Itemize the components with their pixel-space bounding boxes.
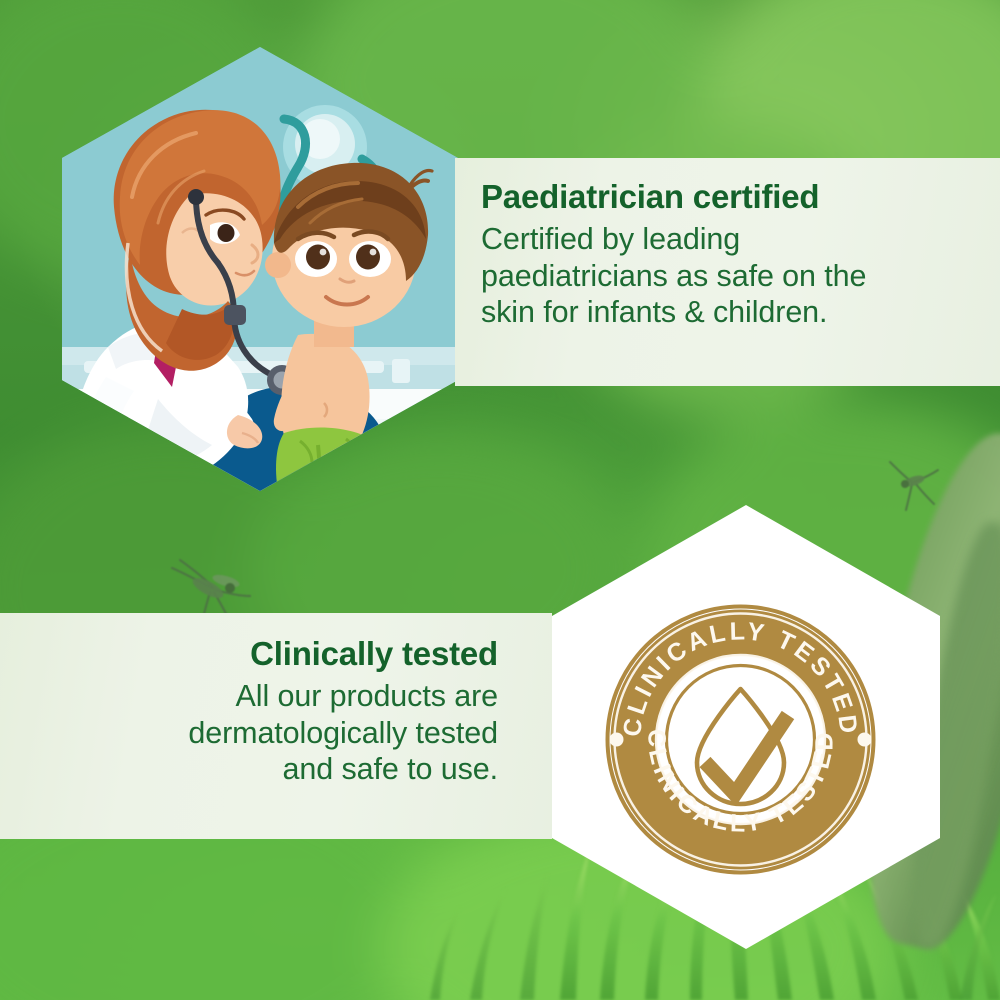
- feature-body-line: dermatologically tested: [188, 716, 498, 750]
- feature-body-line: All our products are: [236, 679, 498, 713]
- feature-body-line: and safe to use.: [283, 752, 498, 786]
- infographic-canvas: Paediatrician certified Certified by lea…: [0, 0, 1000, 1000]
- feature-title: Clinically tested: [0, 637, 498, 672]
- feature-body-line: Certified by leading: [481, 222, 740, 256]
- feature-body-line: paediatricians as safe on the: [481, 259, 866, 293]
- seal-dot-left: [610, 733, 624, 747]
- feature-panel-paediatrician-certified: Paediatrician certified Certified by lea…: [455, 158, 1000, 386]
- clinically-tested-seal: CLINICALLY TESTED CLINICALLY TESTED: [602, 601, 879, 878]
- feature-body-line: skin for infants & children.: [481, 295, 827, 329]
- feature-body: Certified by leadingpaediatricians as sa…: [481, 221, 972, 331]
- stethoscope-earpiece: [188, 189, 204, 205]
- stethoscope-connector: [224, 305, 246, 325]
- paediatrician-illustration-hexagon: [62, 47, 458, 491]
- feature-body: All our products aredermatologically tes…: [0, 678, 498, 788]
- seal-dot-right: [858, 733, 872, 747]
- mosquito-icon: [878, 452, 948, 512]
- doctor-examining-child-illustration: [62, 47, 458, 491]
- feature-title: Paediatrician certified: [481, 180, 972, 215]
- feature-panel-clinically-tested: Clinically tested All our products arede…: [0, 613, 552, 839]
